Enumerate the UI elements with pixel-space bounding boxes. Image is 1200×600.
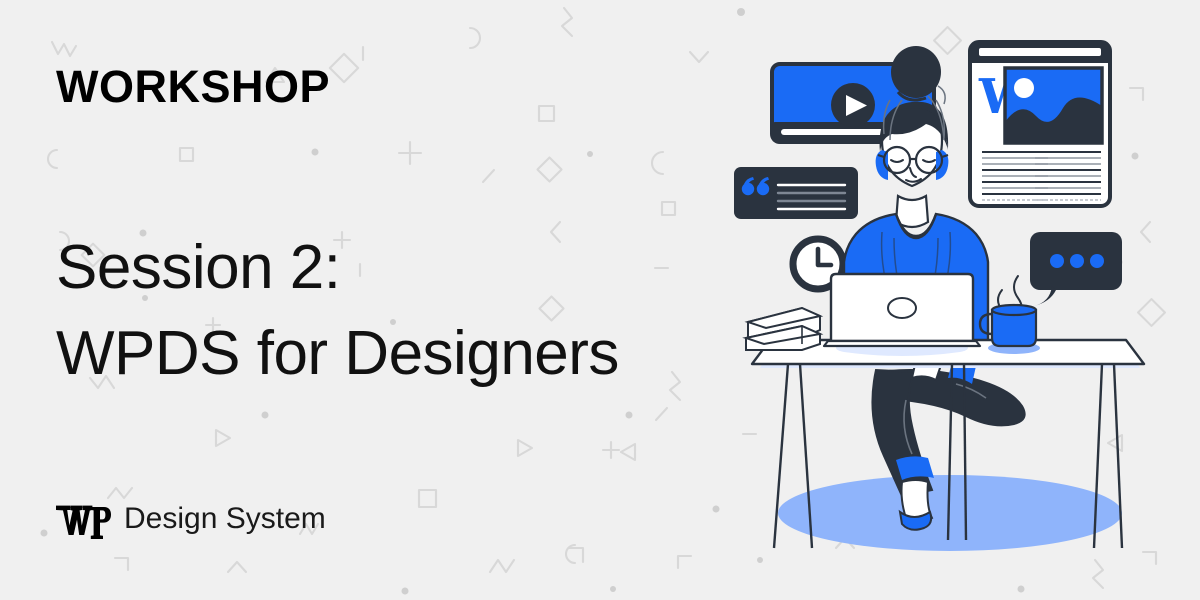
books [746,308,820,350]
newspaper-card: W [970,42,1110,206]
chat-bubble-icon [1030,232,1122,306]
triangle-doodle [621,444,635,460]
zigzag-doodle [670,372,680,400]
corner-bracket-doodle [115,558,128,570]
dot-doodle [587,151,593,157]
zigzag-doodle [490,560,514,572]
arc-doodle [48,150,57,168]
chevron-down-doodle [690,52,708,62]
dot-doodle [626,412,633,419]
newspaper-image-placeholder [1005,68,1102,143]
brand-lockup: Design System [54,497,326,541]
square-doodle [539,106,554,121]
typing-dots-icon [1050,254,1104,268]
designer-at-desk-illustration: W [730,0,1200,600]
dot-doodle [402,588,409,595]
corner-bracket-doodle [678,556,691,568]
plus-doodle [399,142,421,164]
arc-doodle [652,152,663,174]
hair-bun [891,46,941,98]
washington-post-logo-icon [54,497,112,541]
chevron-up-doodle [228,562,246,572]
diamond-doodle [537,157,561,181]
arc-doodle [470,28,480,48]
dot-doodle [41,530,48,537]
arc-doodle [566,545,575,563]
zigzag-doodle [52,42,76,56]
triangle-doodle [518,440,532,456]
dot-doodle [262,412,269,419]
zigzag-doodle [562,8,572,36]
sun-icon [1014,78,1034,98]
triangle-doodle [216,430,230,446]
dot-doodle [312,149,319,156]
brand-name-label: Design System [124,504,326,534]
square-doodle [180,148,193,161]
square-doodle [662,202,675,215]
dot-doodle [610,586,616,592]
dot-doodle [713,506,720,513]
diamond-doodle [330,54,358,82]
square-doodle [419,490,436,507]
laptop [824,274,980,356]
quote-card [734,167,858,219]
plus-doodle [603,442,619,458]
slash-doodle [656,408,667,420]
workshop-slide: WORKSHOP Session 2: WPDS for Designers D… [0,0,1200,600]
page-title: Session 2: WPDS for Designers [56,225,619,396]
corner-bracket-doodle [569,548,583,562]
eyebrow-label: WORKSHOP [56,64,330,109]
laptop-logo [888,298,916,318]
slash-doodle [483,170,494,182]
